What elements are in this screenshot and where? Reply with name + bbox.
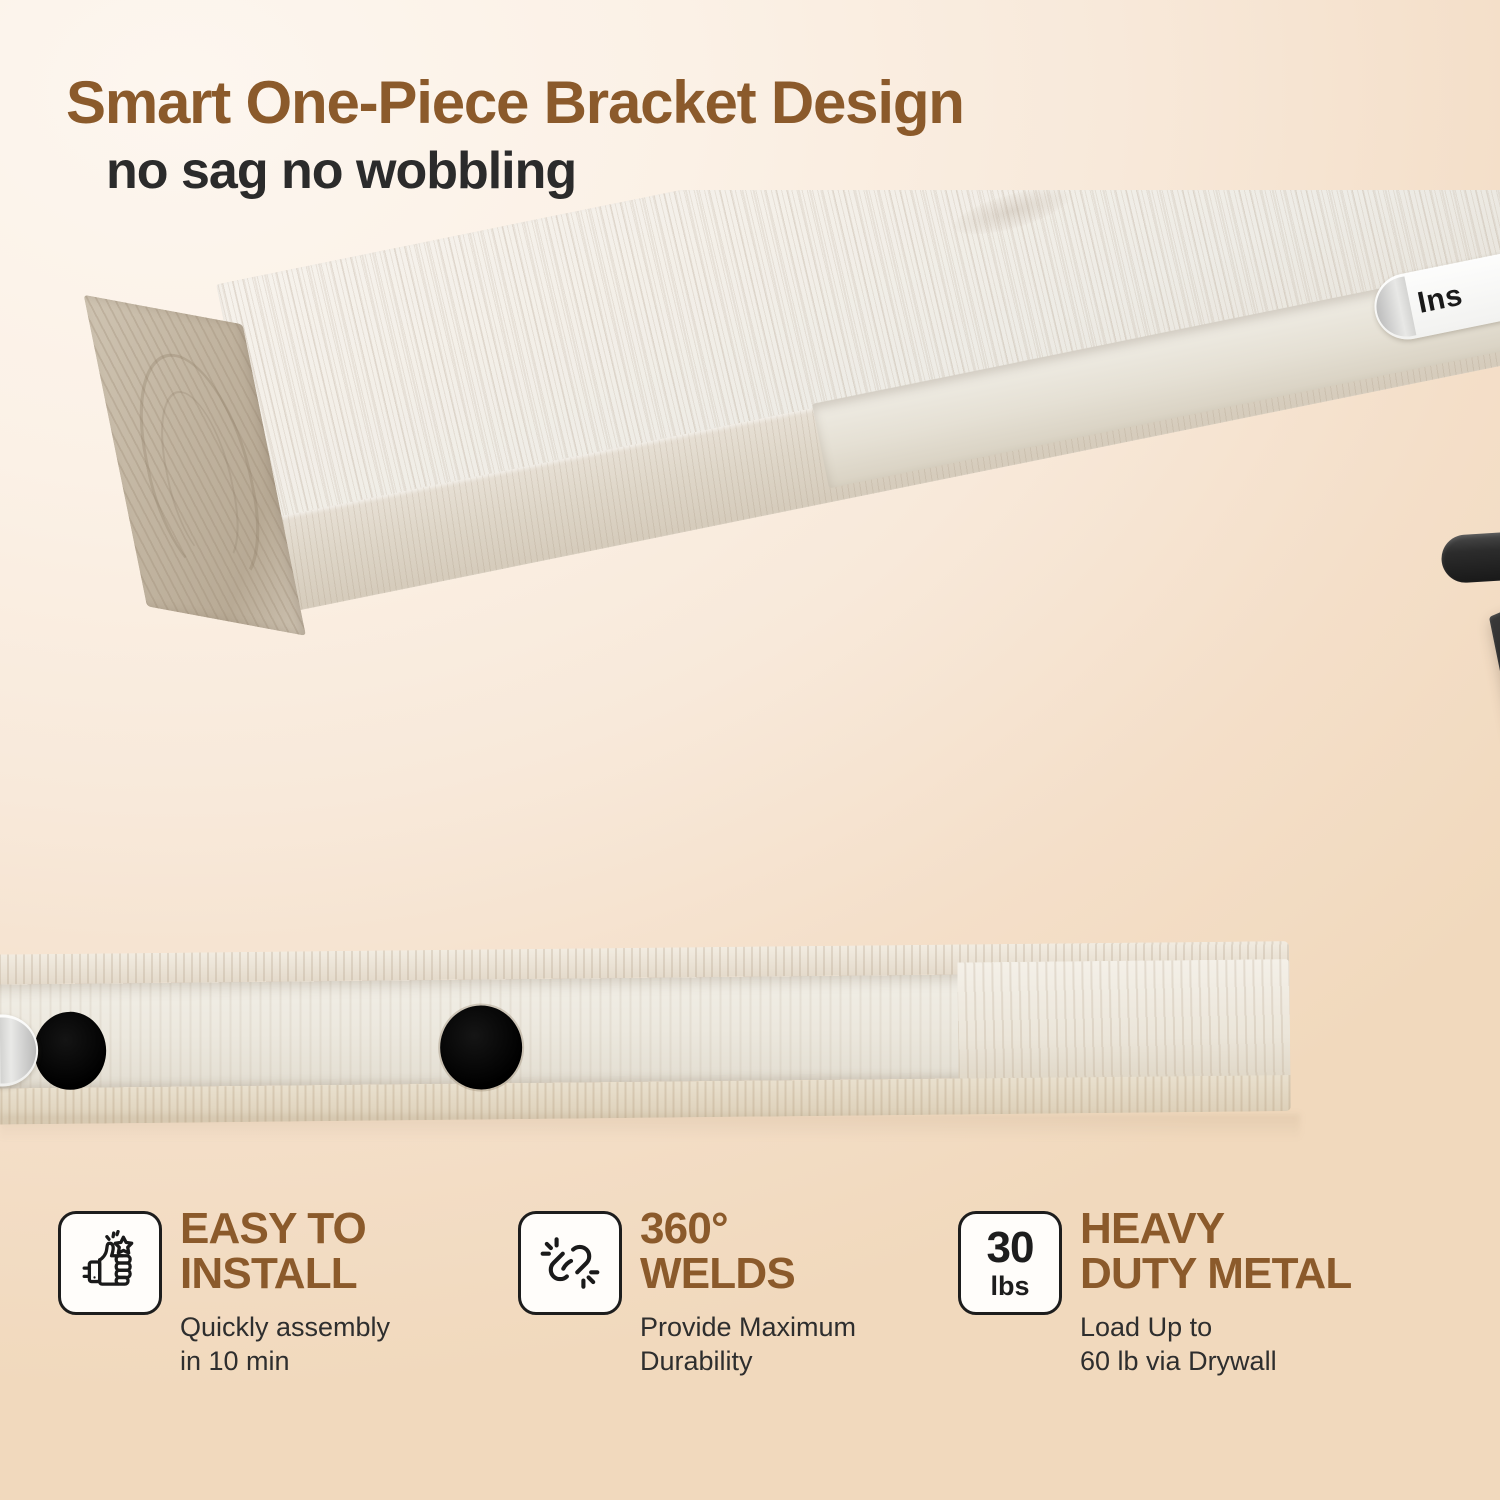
feature-list: EASY TO INSTALL Quickly assembly in 10 m…	[0, 1205, 1500, 1378]
feature-heavy-duty-metal: 30 lbs HEAVY DUTY METAL Load Up to 60 lb…	[958, 1205, 1438, 1378]
feature-title: 360° WELDS	[640, 1207, 856, 1297]
feature-text: HEAVY DUTY METAL Load Up to 60 lb via Dr…	[1080, 1205, 1351, 1378]
hero-product-photo: Ins	[0, 190, 1500, 830]
bracket-wall-plate	[1489, 458, 1500, 743]
shelf-solid-end-block	[957, 959, 1291, 1092]
feature-title: EASY TO INSTALL	[180, 1207, 390, 1297]
shelf-underside-view: are	[0, 941, 1291, 1125]
bracket-rod-hole	[440, 1005, 523, 1090]
weight-badge-unit: lbs	[990, 1273, 1029, 1300]
weight-badge-value: 30	[987, 1226, 1034, 1270]
floating-shelf: Ins	[204, 190, 1500, 774]
page-subtitle: no sag no wobbling	[106, 144, 1500, 199]
bracket-rod-hole	[34, 1011, 107, 1090]
bracket-rod	[1440, 525, 1500, 584]
feature-text: 360° WELDS Provide Maximum Durability	[640, 1205, 856, 1378]
page-title: Smart One-Piece Bracket Design	[66, 72, 1500, 134]
feature-description: Provide Maximum Durability	[640, 1311, 856, 1379]
detail-shelf-shadow	[0, 1114, 1300, 1140]
feature-easy-to-install: EASY TO INSTALL Quickly assembly in 10 m…	[58, 1205, 518, 1378]
weight-badge-text: 30 lbs	[987, 1226, 1034, 1300]
feature-title: HEAVY DUTY METAL	[1080, 1207, 1351, 1297]
thumbs-up-star-icon	[58, 1211, 162, 1315]
chain-link-weld-icon	[518, 1211, 622, 1315]
detail-product-photo: are	[0, 900, 1500, 1180]
metal-wall-bracket	[1447, 455, 1500, 725]
feature-description: Quickly assembly in 10 min	[180, 1311, 390, 1379]
feature-description: Load Up to 60 lb via Drywall	[1080, 1311, 1351, 1379]
feature-360-welds: 360° WELDS Provide Maximum Durability	[518, 1205, 958, 1378]
header: Smart One-Piece Bracket Design no sag no…	[0, 0, 1500, 199]
weight-badge-icon: 30 lbs	[958, 1211, 1062, 1315]
feature-text: EASY TO INSTALL Quickly assembly in 10 m…	[180, 1205, 390, 1378]
